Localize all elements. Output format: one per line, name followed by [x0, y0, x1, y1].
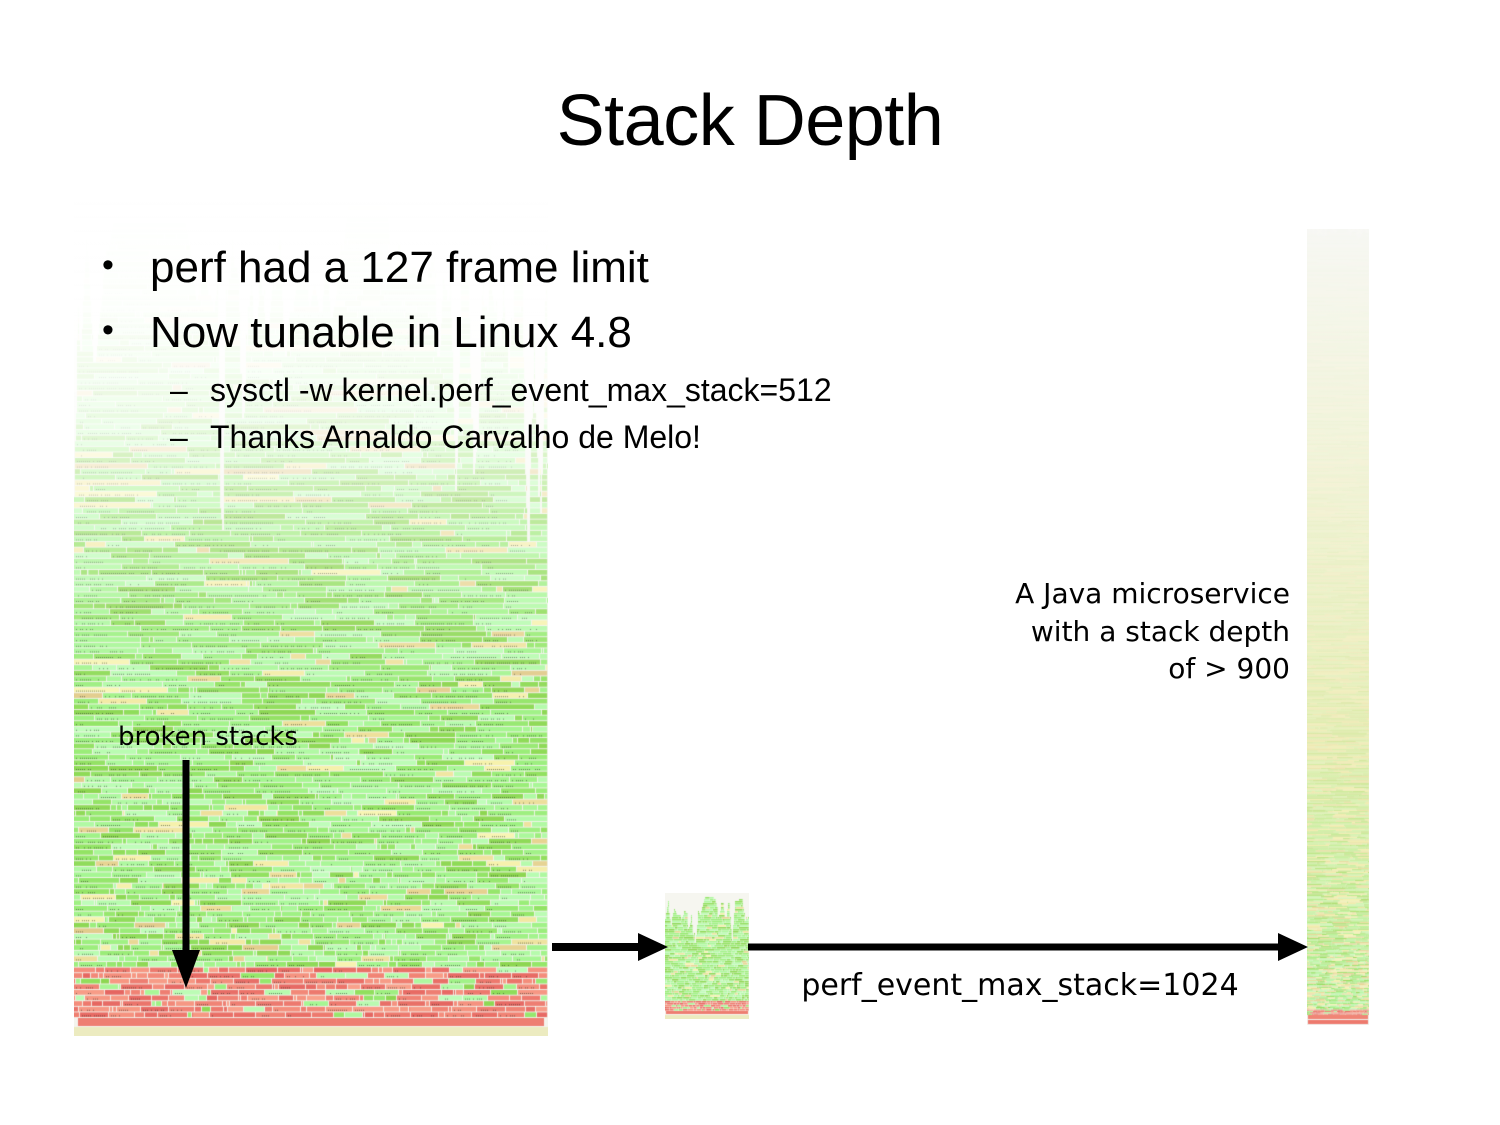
page-title: Stack Depth	[0, 80, 1500, 162]
bullet-list: perf had a 127 frame limit Now tunable i…	[78, 238, 1018, 460]
caption-line-1: A Java microservice	[960, 575, 1290, 613]
perf-event-max-stack-label: perf_event_max_stack=1024	[740, 968, 1300, 1003]
slide-canvas: Stack Depth perf had a 127 frame limit N…	[0, 0, 1500, 1125]
bullet-item-4: Thanks Arnaldo Carvalho de Melo!	[78, 414, 1018, 460]
bullet-item-3: sysctl -w kernel.perf_event_max_stack=51…	[78, 367, 1018, 413]
right-flamegraph-caption: A Java microservice with a stack depth o…	[960, 575, 1290, 688]
right-flamegraph-canvas	[1307, 229, 1369, 1025]
bullet-item-1: perf had a 127 frame limit	[78, 238, 1018, 299]
right-flamegraph-figure	[1307, 229, 1369, 1025]
broken-stacks-label: broken stacks	[118, 722, 298, 752]
bullet-item-2: Now tunable in Linux 4.8	[78, 303, 1018, 364]
flow-arrow-right-icon	[748, 930, 1310, 964]
middle-flamegraph-thumbnail	[665, 893, 749, 1019]
flow-arrow-left-icon	[552, 930, 670, 964]
middle-flamegraph-canvas	[665, 893, 749, 1019]
caption-line-2: with a stack depth	[960, 613, 1290, 651]
broken-stacks-arrow-icon	[170, 760, 202, 990]
caption-line-3: of > 900	[960, 650, 1290, 688]
